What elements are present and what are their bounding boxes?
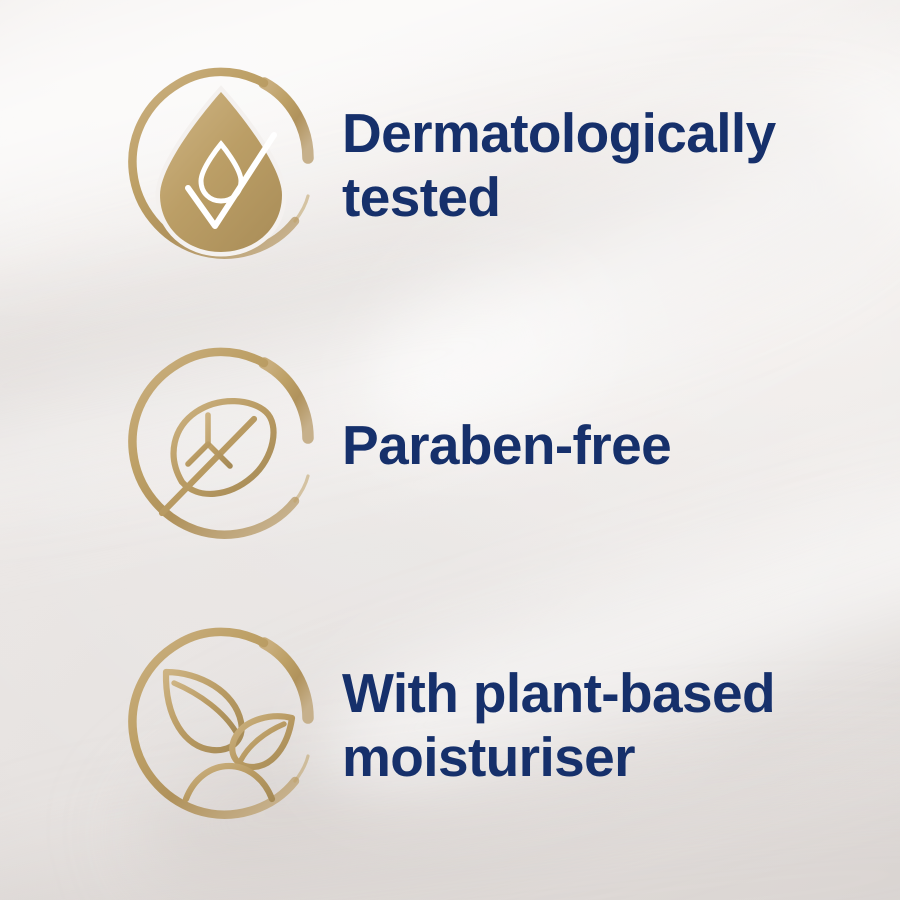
claim-item-plant-based-moisturiser: With plant-based moisturiser <box>0 600 900 850</box>
leaf-icon <box>96 320 346 570</box>
claim-label-dermatologically-tested: Dermatologically tested <box>342 101 776 230</box>
claim-item-paraben-free: Paraben-free <box>0 320 900 570</box>
claim-label-plant-based-moisturiser: With plant-based moisturiser <box>342 661 775 790</box>
benefits-panel: Dermatologically tested <box>0 0 900 900</box>
claim-icon-wrapper <box>96 320 346 570</box>
claim-label-paraben-free: Paraben-free <box>342 413 671 477</box>
sprout-icon <box>96 600 346 850</box>
claim-icon-wrapper <box>96 600 346 850</box>
droplet-check-icon <box>96 40 346 290</box>
claim-item-dermatologically-tested: Dermatologically tested <box>0 40 900 290</box>
claim-icon-wrapper <box>96 40 346 290</box>
claims-list: Dermatologically tested <box>0 0 900 900</box>
